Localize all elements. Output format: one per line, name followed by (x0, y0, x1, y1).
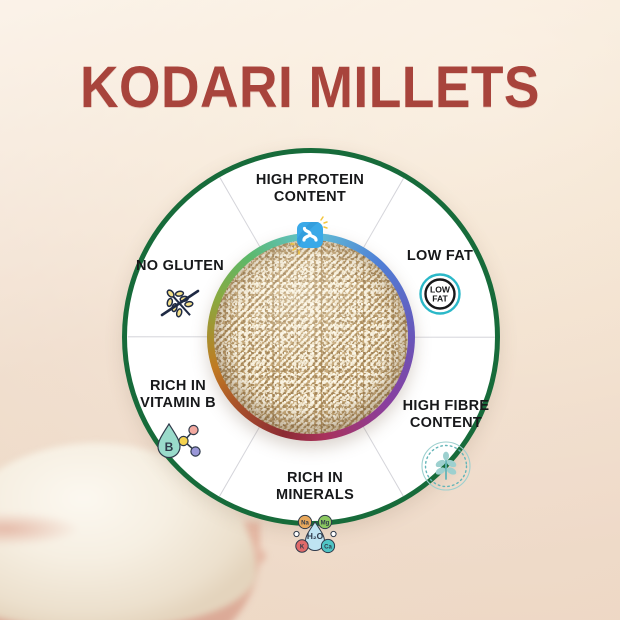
fibre-leaf-icon (376, 440, 516, 492)
minerals-icon: Na Mg K Ca H₂O (240, 513, 390, 555)
segment-high-protein[interactable]: HIGH PROTEIN CONTENT (195, 172, 425, 255)
svg-text:Mg: Mg (321, 521, 330, 527)
segment-label-high-fibre: HIGH FIBRE CONTENT (376, 398, 516, 432)
infographic-canvas: KODARI MILLETS HIGH PROTEIN CONTENT (0, 0, 620, 620)
svg-text:Na: Na (301, 521, 309, 527)
vitamin-b-icon: B (108, 420, 248, 462)
segment-no-gluten[interactable]: NO GLUTEN (110, 258, 250, 325)
segment-label-rich-in-vitamin-b: RICH IN VITAMIN B (108, 378, 248, 412)
segment-label-high-protein: HIGH PROTEIN CONTENT (195, 172, 425, 206)
segment-label-no-gluten: NO GLUTEN (110, 258, 250, 275)
no-gluten-icon (110, 283, 250, 325)
svg-text:K: K (300, 545, 305, 551)
low-fat-badge-icon: LOW FAT (372, 271, 508, 317)
low-fat-icon-line2: FAT (432, 294, 448, 304)
svg-text:Ca: Ca (324, 545, 332, 551)
page-title: KODARI MILLETS (25, 58, 595, 119)
segment-rich-in-minerals[interactable]: RICH IN MINERALS Na Mg K Ca H₂O (240, 470, 390, 555)
segment-low-fat[interactable]: LOW FAT LOW FAT (372, 248, 508, 317)
segment-label-rich-in-minerals: RICH IN MINERALS (240, 470, 390, 504)
vitamin-b-icon-letter: B (165, 440, 174, 454)
segment-high-fibre[interactable]: HIGH FIBRE CONTENT (376, 398, 516, 492)
svg-text:H₂O: H₂O (307, 531, 324, 541)
segment-label-low-fat: LOW FAT (372, 248, 508, 265)
segment-rich-in-vitamin-b[interactable]: RICH IN VITAMIN B B (108, 378, 248, 462)
